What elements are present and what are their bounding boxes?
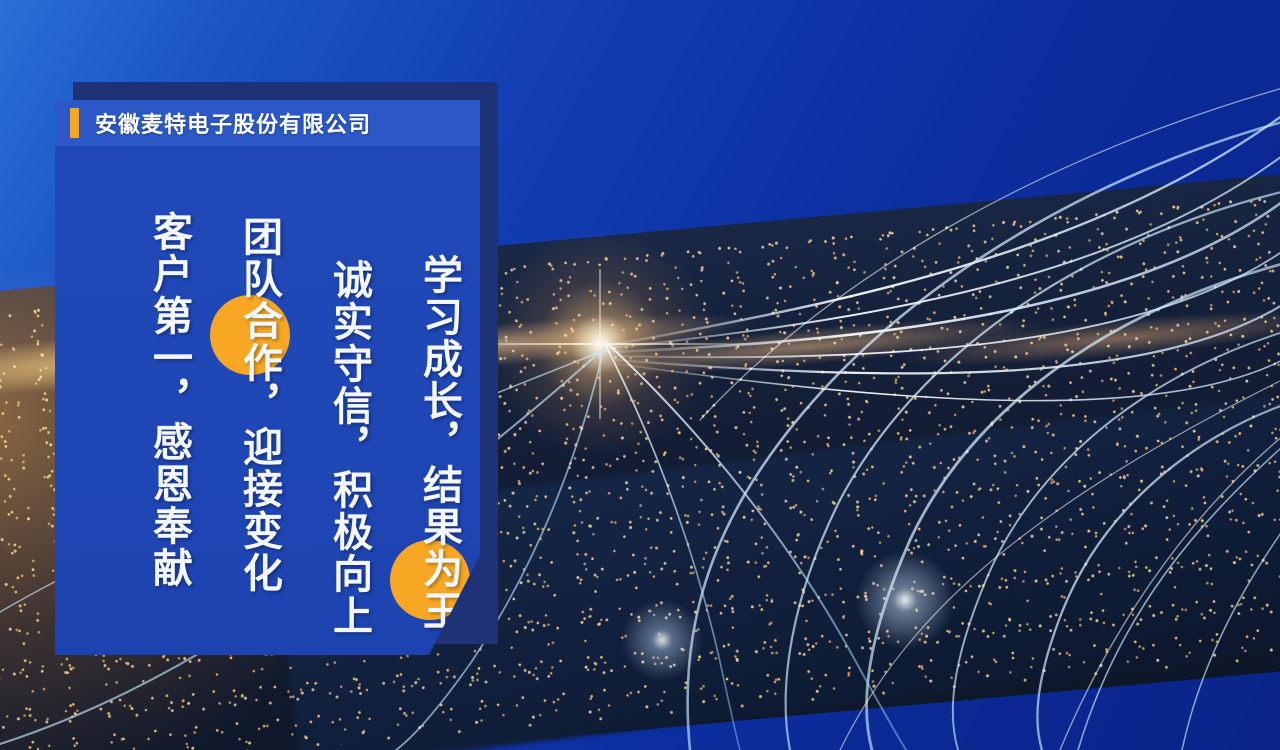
accent-bar-icon [70, 108, 79, 138]
company-name-title: 安徽麦特电子股份有限公司 [95, 107, 371, 139]
culture-card: 安徽麦特电子股份有限公司 客户第一，感恩奉献 团队合作，迎接变化 诚实守信，积极… [55, 82, 500, 647]
slogan-column-learning-growth: 学习成长，结果为王 [416, 254, 462, 632]
slogan-column-team-cooperation: 团队合作，迎接变化 [236, 216, 282, 594]
slogan-column-customer-first: 客户第一，感恩奉献 [146, 211, 192, 589]
card-front-panel: 安徽麦特电子股份有限公司 客户第一，感恩奉献 团队合作，迎接变化 诚实守信，积极… [55, 100, 480, 655]
poster-stage: 安徽麦特电子股份有限公司 客户第一，感恩奉献 团队合作，迎接变化 诚实守信，积极… [0, 0, 1280, 750]
slogan-panel: 客户第一，感恩奉献 团队合作，迎接变化 诚实守信，积极向上 学习成长，结果为王 [55, 146, 480, 655]
slogan-column-honesty-integrity: 诚实守信，积极向上 [326, 259, 372, 637]
card-title-bar: 安徽麦特电子股份有限公司 [55, 100, 480, 146]
